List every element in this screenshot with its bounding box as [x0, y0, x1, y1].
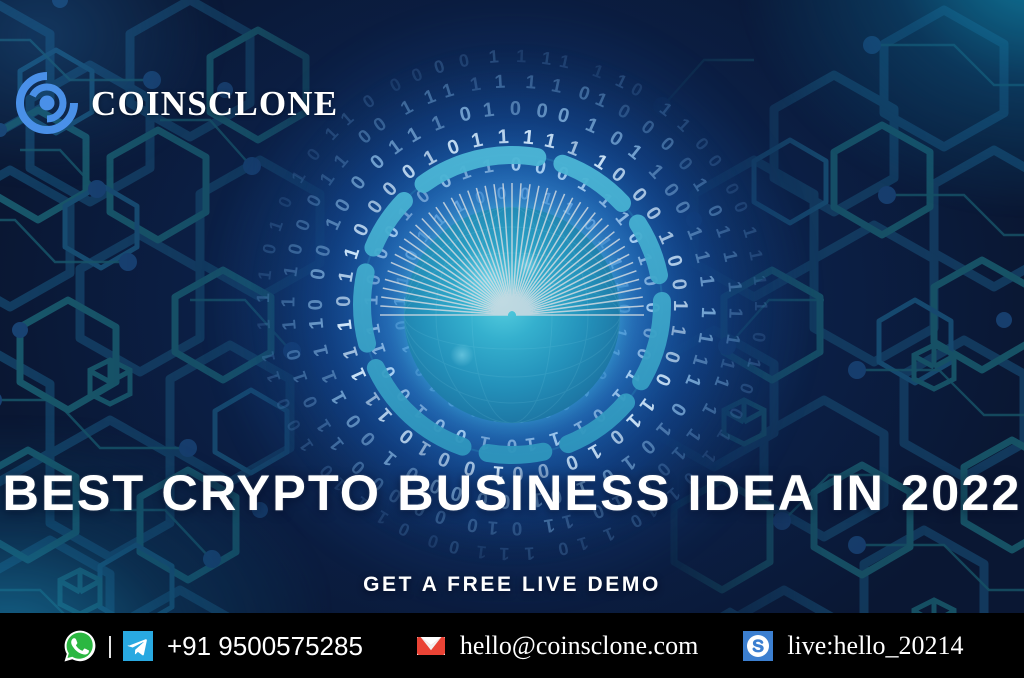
- contact-bar: | +91 9500575285 hello@coinsclone.com: [0, 613, 1024, 678]
- skype-icon[interactable]: [743, 631, 773, 661]
- radiating-spoke-lines: [380, 183, 644, 315]
- whatsapp-icon[interactable]: [63, 629, 97, 663]
- promo-banner: 0110100011010101101110001101110001101110…: [0, 0, 1024, 678]
- brand-name: COINSCLONE: [91, 86, 338, 121]
- svg-text:1: 1: [723, 280, 745, 293]
- contact-phone[interactable]: | +91 9500575285: [63, 613, 363, 678]
- glow-top-right: [744, 0, 1024, 210]
- contact-skype[interactable]: live:hello_20214: [743, 613, 963, 678]
- email-address[interactable]: hello@coinsclone.com: [460, 633, 698, 659]
- contact-separator: |: [107, 634, 113, 657]
- telegram-icon[interactable]: [123, 631, 153, 661]
- svg-text:1: 1: [516, 46, 527, 66]
- phone-number[interactable]: +91 9500575285: [167, 633, 363, 659]
- svg-text:1: 1: [697, 306, 719, 318]
- svg-text:1: 1: [749, 274, 770, 286]
- page-title: BEST CRYPTO BUSINESS IDEA IN 2022: [0, 468, 1024, 518]
- svg-text:1: 1: [253, 293, 273, 304]
- page-subtitle: GET A FREE LIVE DEMO: [0, 573, 1024, 597]
- svg-text:1: 1: [278, 296, 299, 307]
- svg-text:1: 1: [524, 543, 535, 564]
- svg-text:0: 0: [305, 299, 327, 310]
- skype-id[interactable]: live:hello_20214: [787, 633, 963, 659]
- coinsclone-ring-logo-icon: [16, 72, 78, 134]
- svg-text:1: 1: [305, 317, 328, 330]
- contact-email[interactable]: hello@coinsclone.com: [416, 613, 698, 678]
- brand-logo[interactable]: COINSCLONE: [16, 72, 338, 134]
- gmail-icon[interactable]: [416, 631, 446, 661]
- svg-text:1: 1: [488, 46, 499, 67]
- svg-text:1: 1: [494, 72, 506, 94]
- svg-text:1: 1: [751, 301, 771, 311]
- svg-text:1: 1: [499, 544, 510, 564]
- svg-text:1: 1: [253, 319, 274, 331]
- svg-text:0: 0: [510, 98, 522, 120]
- svg-text:1: 1: [724, 307, 745, 319]
